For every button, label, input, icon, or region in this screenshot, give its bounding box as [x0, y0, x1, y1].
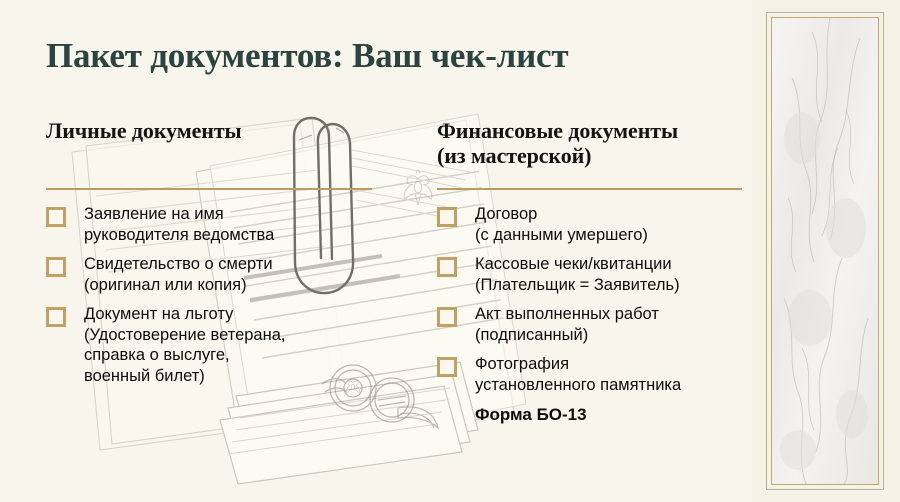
checklist-personal: Заявление на имя руководителя ведомства … [46, 204, 376, 386]
marble-inner-frame [771, 17, 879, 485]
checkbox-icon[interactable] [46, 307, 66, 327]
checklist-item-text: Акт выполненных работ (подписанный) [475, 304, 747, 345]
slide-canvas: Пакет документов: Ваш чек-лист Личные до… [0, 0, 900, 502]
checklist-item-text: Заявление на имя руководителя ведомства [84, 204, 376, 245]
checkbox-icon[interactable] [437, 207, 457, 227]
checklist-item[interactable]: Договор (с данными умершего) [437, 204, 747, 245]
checklist-item[interactable]: Документ на льготу (Удостоверение ветера… [46, 304, 376, 386]
form-note: Форма БО-13 [475, 404, 747, 425]
checklist-item[interactable]: Акт выполненных работ (подписанный) [437, 304, 747, 345]
checklist-item-text: Свидетельство о смерти (оригинал или коп… [84, 254, 376, 295]
column-header-personal: Личные документы [46, 118, 376, 143]
double-headed-eagle-emblem [404, 170, 432, 205]
checklist-item-text: Кассовые чеки/квитанции (Плательщик = За… [475, 254, 747, 295]
checkbox-icon[interactable] [437, 257, 457, 277]
checklist-item[interactable]: Заявление на имя руководителя ведомства [46, 204, 376, 245]
checkbox-icon[interactable] [437, 357, 457, 377]
checklist-item[interactable]: Кассовые чеки/квитанции (Плательщик = За… [437, 254, 747, 295]
column-financial-documents: Финансовые документы (из мастерской) Дог… [437, 118, 747, 425]
column-divider-financial [437, 188, 742, 190]
checkbox-icon[interactable] [46, 257, 66, 277]
checklist-item-text: Фотография установленного памятника [475, 354, 747, 395]
checklist-financial: Договор (с данными умершего) Кассовые че… [437, 204, 747, 425]
column-header-financial: Финансовые документы (из мастерской) [437, 118, 747, 168]
column-divider-personal [46, 188, 372, 190]
marble-panel [752, 0, 900, 502]
checklist-item-text: Договор (с данными умершего) [475, 204, 747, 245]
checklist-item[interactable]: Фотография установленного памятника [437, 354, 747, 395]
checklist-item-text: Документ на льготу (Удостоверение ветера… [84, 304, 376, 386]
checklist-item[interactable]: Свидетельство о смерти (оригинал или коп… [46, 254, 376, 295]
column-personal-documents: Личные документы Заявление на имя руково… [46, 118, 376, 395]
page-title: Пакет документов: Ваш чек-лист [46, 36, 568, 76]
checkbox-icon[interactable] [46, 207, 66, 227]
checkbox-icon[interactable] [437, 307, 457, 327]
